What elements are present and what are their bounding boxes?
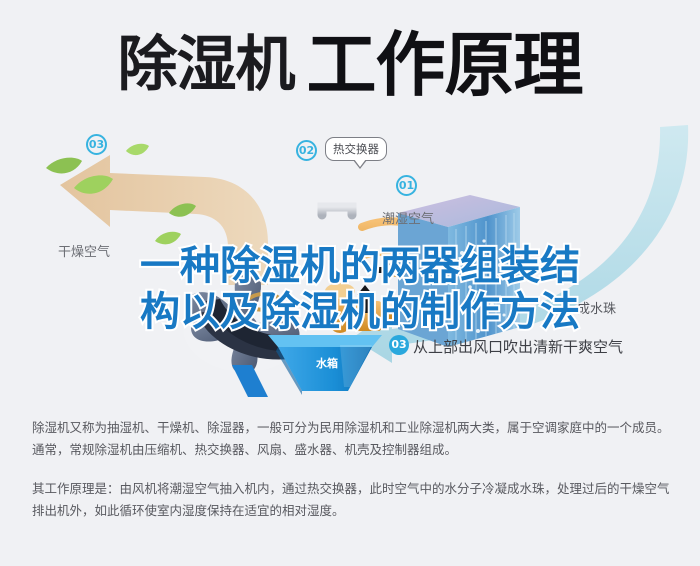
paragraph1-line2: 通常，常规除湿机由压缩机、热交换器、风扇、盛水器、机壳及控制器组成。 — [32, 439, 672, 461]
dry-air-arrow — [60, 155, 268, 285]
page-title-part1: 除湿机 — [118, 35, 295, 95]
body-copy: 除湿机又称为抽湿机、干燥机、除湿器，一般可分为民用除湿机和工业除湿机两大类，属于… — [32, 417, 672, 522]
label-moist-air: 潮湿空气 — [382, 208, 434, 227]
label-dry-air: 干燥空气 — [58, 241, 110, 260]
paragraph-spacer — [32, 461, 672, 478]
label-water-tank: 水箱 — [316, 355, 338, 371]
paragraph1-line1: 除湿机又称为抽湿机、干燥机、除湿器，一般可分为民用除湿机和工业除湿机两大类，属于… — [32, 417, 672, 439]
badge-moist-air: 01 — [396, 175, 417, 196]
note-condensation: 成水珠 — [577, 298, 616, 317]
dehumidifier-diagram: 03 干燥空气 02 热交换器 01 潮湿空气 水箱 成水珠 03 从上部出风口… — [0, 115, 700, 400]
paragraph2-line2: 排出机外，如此循环使室内湿度保持在适宜的相对湿度。 — [32, 500, 672, 522]
paragraph2-line1: 其工作原理是：由风机将潮湿空气抽入机内，通过热交换器，此时空气中的水分子冷凝成水… — [32, 478, 672, 500]
infographic-page: 除湿机 工作原理 — [0, 0, 700, 566]
badge-outlet: 03 — [389, 335, 409, 355]
page-title-part2: 工作原理 — [307, 30, 583, 100]
page-title: 除湿机 工作原理 — [0, 22, 700, 108]
badge-heat-exchanger: 02 — [296, 140, 317, 161]
badge-dry-air: 03 — [86, 134, 107, 155]
label-heat-exchanger: 热交换器 — [325, 137, 387, 161]
note-outlet: 从上部出风口吹出清新干爽空气 — [413, 336, 623, 357]
